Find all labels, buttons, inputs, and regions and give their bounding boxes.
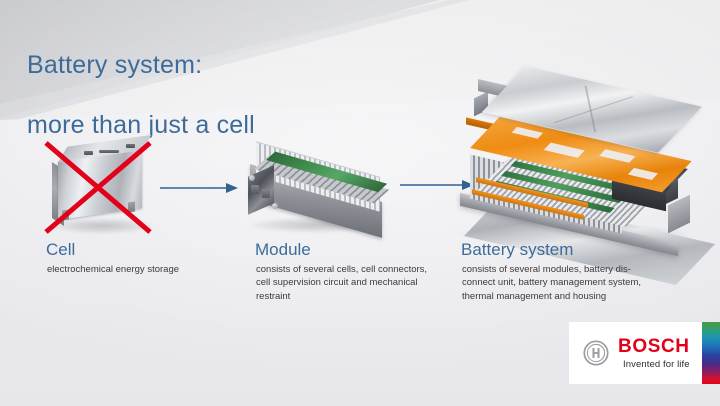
- battery-system-figure: [462, 48, 698, 238]
- module-bolt-top: [249, 175, 255, 181]
- cell-cross-out-icon: [44, 140, 154, 235]
- module-bolt-bottom: [272, 203, 278, 209]
- bosch-wordmark: BOSCH: [618, 337, 690, 356]
- caption-heading-cell: Cell: [46, 240, 75, 260]
- caption-body-cell: electrochemical energy storage: [47, 263, 247, 276]
- pack-harness-cutout-4: [628, 168, 658, 180]
- slide-canvas: Battery system: more than just a cell: [0, 0, 720, 406]
- pack-harness-cutout-2: [544, 143, 585, 158]
- bosch-emblem-icon: [583, 340, 609, 366]
- page-title-line-2: more than just a cell: [27, 111, 255, 139]
- module-connector-a: [251, 185, 259, 194]
- bosch-tagline: Invented for life: [618, 360, 690, 370]
- module-figure: [248, 143, 388, 235]
- cell-figure: [44, 140, 154, 235]
- caption-body-module: consists of several cells, cell connecto…: [256, 263, 438, 303]
- module-connector-b: [262, 189, 270, 198]
- caption-heading-battery-system: Battery system: [461, 240, 573, 260]
- bosch-supergraphic: [702, 322, 720, 384]
- pack-harness-cutout-3: [599, 149, 635, 162]
- page-title-line-1: Battery system:: [27, 51, 202, 79]
- arrow-cell-to-module: [160, 181, 238, 195]
- pack-harness-cutout-1: [512, 127, 543, 139]
- bosch-logo: BOSCH Invented for life: [569, 322, 720, 384]
- caption-body-battery-system: consists of several modules, battery dis…: [462, 263, 654, 303]
- page-title: Battery system: more than just a cell: [27, 20, 255, 140]
- caption-heading-module: Module: [255, 240, 311, 260]
